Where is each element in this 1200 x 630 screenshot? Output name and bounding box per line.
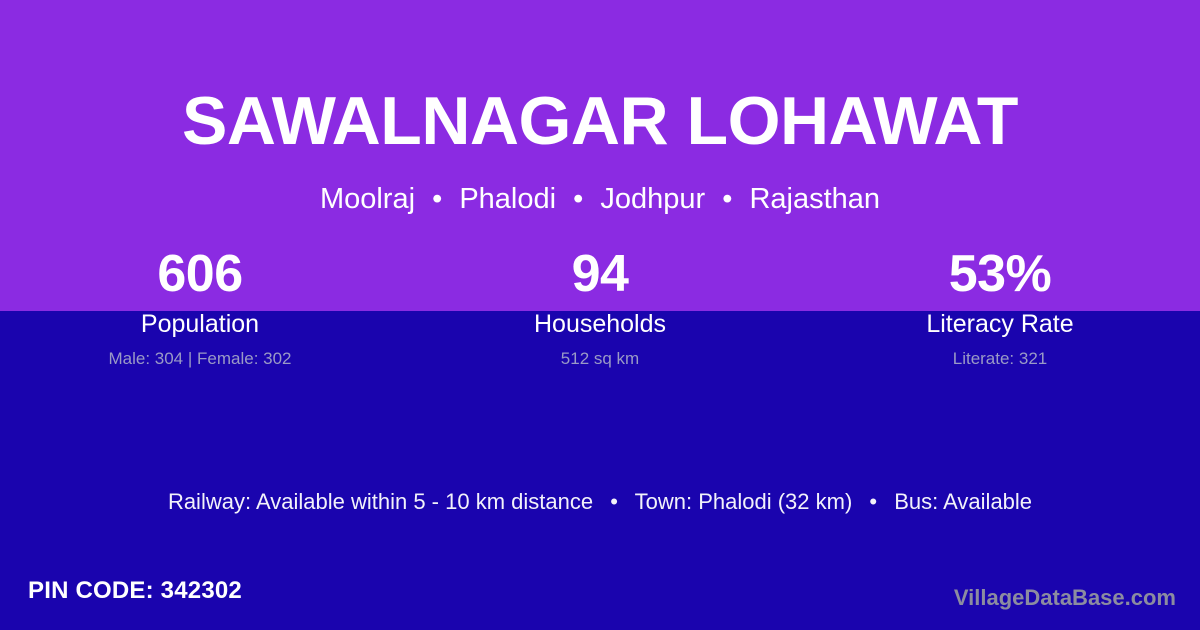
stat-value: 606 — [0, 243, 400, 305]
breadcrumb-item-state: Rajasthan — [749, 183, 880, 215]
stats-row: 606 Population Male: 304 | Female: 302 9… — [0, 243, 1200, 369]
stat-sublabel: 512 sq km — [400, 348, 800, 369]
breadcrumb-separator-icon: • — [564, 181, 592, 217]
stat-value: 53% — [800, 243, 1200, 305]
amenity-town: Town: Phalodi (32 km) — [635, 489, 853, 514]
stat-label: Population — [0, 309, 400, 339]
amenities-line: Railway: Available within 5 - 10 km dist… — [0, 488, 1200, 516]
stat-label: Literacy Rate — [800, 309, 1200, 339]
stat-population: 606 Population Male: 304 | Female: 302 — [0, 243, 400, 369]
stat-sublabel: Literate: 321 — [800, 348, 1200, 369]
village-info-card: SAWALNAGAR LOHAWAT Moolraj • Phalodi • J… — [0, 0, 1200, 630]
pin-code: PIN CODE: 342302 — [28, 576, 242, 606]
amenity-separator-icon: • — [858, 488, 888, 516]
stat-literacy-rate: 53% Literacy Rate Literate: 321 — [800, 243, 1200, 369]
site-brand: VillageDataBase.com — [954, 584, 1176, 612]
breadcrumb-separator-icon: • — [423, 181, 451, 217]
breadcrumb: Moolraj • Phalodi • Jodhpur • Rajasthan — [0, 181, 1200, 217]
breadcrumb-separator-icon: • — [713, 181, 741, 217]
breadcrumb-item-village: Moolraj — [320, 183, 415, 215]
page-title: SAWALNAGAR LOHAWAT — [0, 82, 1200, 160]
breadcrumb-item-tehsil: Phalodi — [459, 183, 556, 215]
stat-sublabel: Male: 304 | Female: 302 — [0, 348, 400, 369]
stat-households: 94 Households 512 sq km — [400, 243, 800, 369]
breadcrumb-item-district: Jodhpur — [600, 183, 705, 215]
amenity-railway: Railway: Available within 5 - 10 km dist… — [168, 489, 593, 514]
amenity-separator-icon: • — [599, 488, 629, 516]
stat-label: Households — [400, 309, 800, 339]
amenity-bus: Bus: Available — [894, 489, 1032, 514]
stat-value: 94 — [400, 243, 800, 305]
